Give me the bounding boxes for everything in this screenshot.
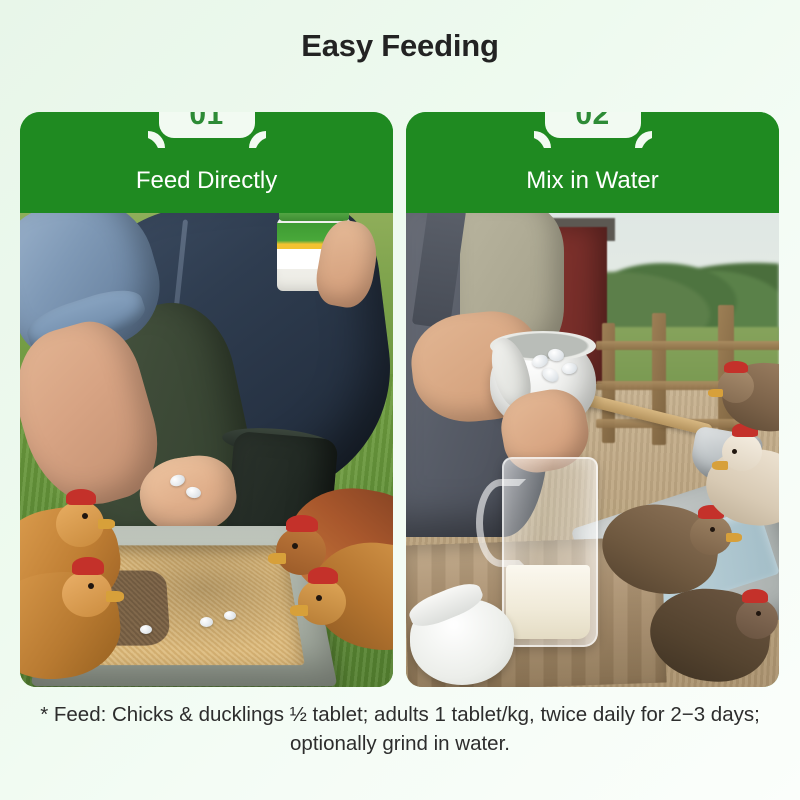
step-card-1-heading: Feed Directly (20, 167, 393, 195)
step-card-1-photo (20, 213, 393, 687)
step-card-2-heading: Mix in Water (406, 167, 779, 195)
infographic-page: Easy Feeding Feed Directly 01 (0, 0, 800, 800)
step-card-1-number: 01 (189, 112, 223, 132)
step-card-2-photo (406, 213, 779, 687)
milky-solution (506, 565, 590, 639)
feeding-instructions-note: * Feed: Chicks & ducklings ½ tablet; adu… (18, 700, 782, 758)
tablet-icon (200, 617, 213, 627)
step-card-2[interactable]: Mix in Water 02 (406, 112, 779, 687)
fence-rail (596, 341, 779, 350)
step-card-1[interactable]: Feed Directly 01 (20, 112, 393, 687)
supplement-jar-lid (279, 213, 349, 221)
step-cards: Feed Directly 01 (20, 112, 780, 687)
page-title: Easy Feeding (0, 28, 800, 64)
tablet-icon (140, 625, 152, 634)
step-card-2-number: 02 (575, 112, 609, 132)
tablet-icon (224, 611, 236, 620)
